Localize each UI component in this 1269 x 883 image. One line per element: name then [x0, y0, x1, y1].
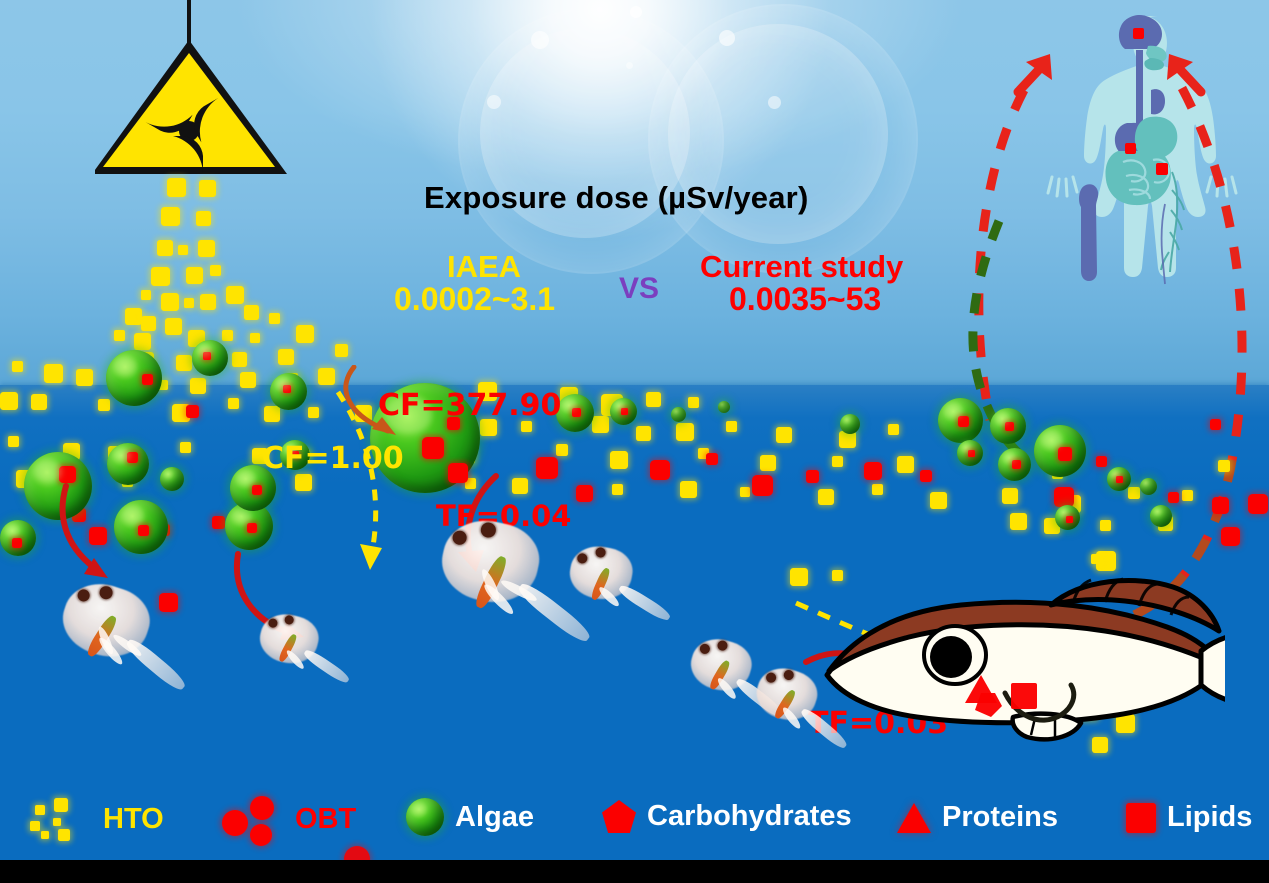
vs-label: VS: [619, 272, 659, 306]
fish-svg: [805, 575, 1225, 760]
algae-cell: [1107, 467, 1131, 491]
brine-shrimp: [556, 535, 691, 649]
page-title: Exposure dose (µSv/year): [424, 180, 808, 216]
algae-cell: [1055, 505, 1080, 530]
algae-cell-icon: [406, 798, 444, 836]
algae-cell: [1150, 505, 1172, 527]
lens-flare-dot: [626, 62, 633, 69]
bottom-black-bar: [0, 860, 1269, 883]
algae-cell: [671, 407, 686, 422]
algae-cell: [106, 350, 162, 406]
algae-cell: [998, 448, 1031, 481]
algae-cell: [0, 520, 36, 556]
cf-water-label: CF=1.00: [262, 441, 404, 476]
radiation-triangle-svg: [95, 0, 310, 190]
square-icon: [1126, 803, 1156, 833]
cf-algae-label: CF=377.90: [378, 388, 561, 423]
algae-cell: [840, 414, 860, 434]
radiation-hazard-icon: [95, 0, 310, 190]
legend-label: Lipids: [1167, 801, 1252, 834]
lens-flare-dot: [531, 31, 549, 49]
graphical-abstract-canvas: Exposure dose (µSv/year) IAEA 0.0002~3.1…: [0, 0, 1269, 883]
legend-item-hto: HTO: [28, 796, 164, 842]
algae-cell: [192, 340, 228, 376]
algae-cell: [957, 440, 983, 466]
legend-item-obt: OBT: [222, 796, 356, 842]
algae-cell: [990, 408, 1026, 444]
lens-flare-dot: [719, 30, 735, 46]
algae-cell: [1140, 478, 1157, 495]
iaea-value: 0.0002~3.1: [394, 281, 555, 318]
legend-label: Carbohydrates: [647, 800, 852, 833]
algae-cell: [556, 394, 594, 432]
hanging-wire: [187, 0, 191, 46]
algae-cell: [610, 398, 637, 425]
legend-label: OBT: [295, 803, 356, 836]
fish-icon: [805, 575, 1225, 760]
legend: HTO OBT Algae Carbohydrates Proteins Lip…: [0, 782, 1269, 860]
hto-cluster-icon: [28, 796, 92, 842]
obt-cluster-icon: [222, 796, 284, 842]
algae-cell: [1034, 425, 1086, 477]
triangle-icon: [897, 803, 931, 833]
legend-label: Proteins: [942, 801, 1058, 834]
lens-flare-dot: [630, 6, 642, 18]
legend-item-carbohydrates: Carbohydrates: [602, 800, 852, 833]
iaea-label: IAEA: [447, 249, 521, 285]
legend-item-algae: Algae: [406, 798, 534, 836]
lens-flare-dot: [768, 96, 781, 109]
algae-cell: [270, 373, 307, 410]
pentagon-icon: [602, 800, 636, 833]
algae-cell: [107, 443, 149, 485]
legend-label: Algae: [455, 801, 534, 834]
legend-item-lipids: Lipids: [1126, 801, 1252, 834]
lens-flare-dot: [487, 95, 501, 109]
legend-label: HTO: [103, 803, 164, 836]
algae-cell: [938, 398, 983, 443]
algae-cell: [718, 401, 730, 413]
lens-flare-ring: [648, 4, 918, 274]
current-study-label: Current study: [700, 249, 903, 285]
current-study-value: 0.0035~53: [729, 281, 881, 318]
legend-item-proteins: Proteins: [897, 801, 1058, 834]
